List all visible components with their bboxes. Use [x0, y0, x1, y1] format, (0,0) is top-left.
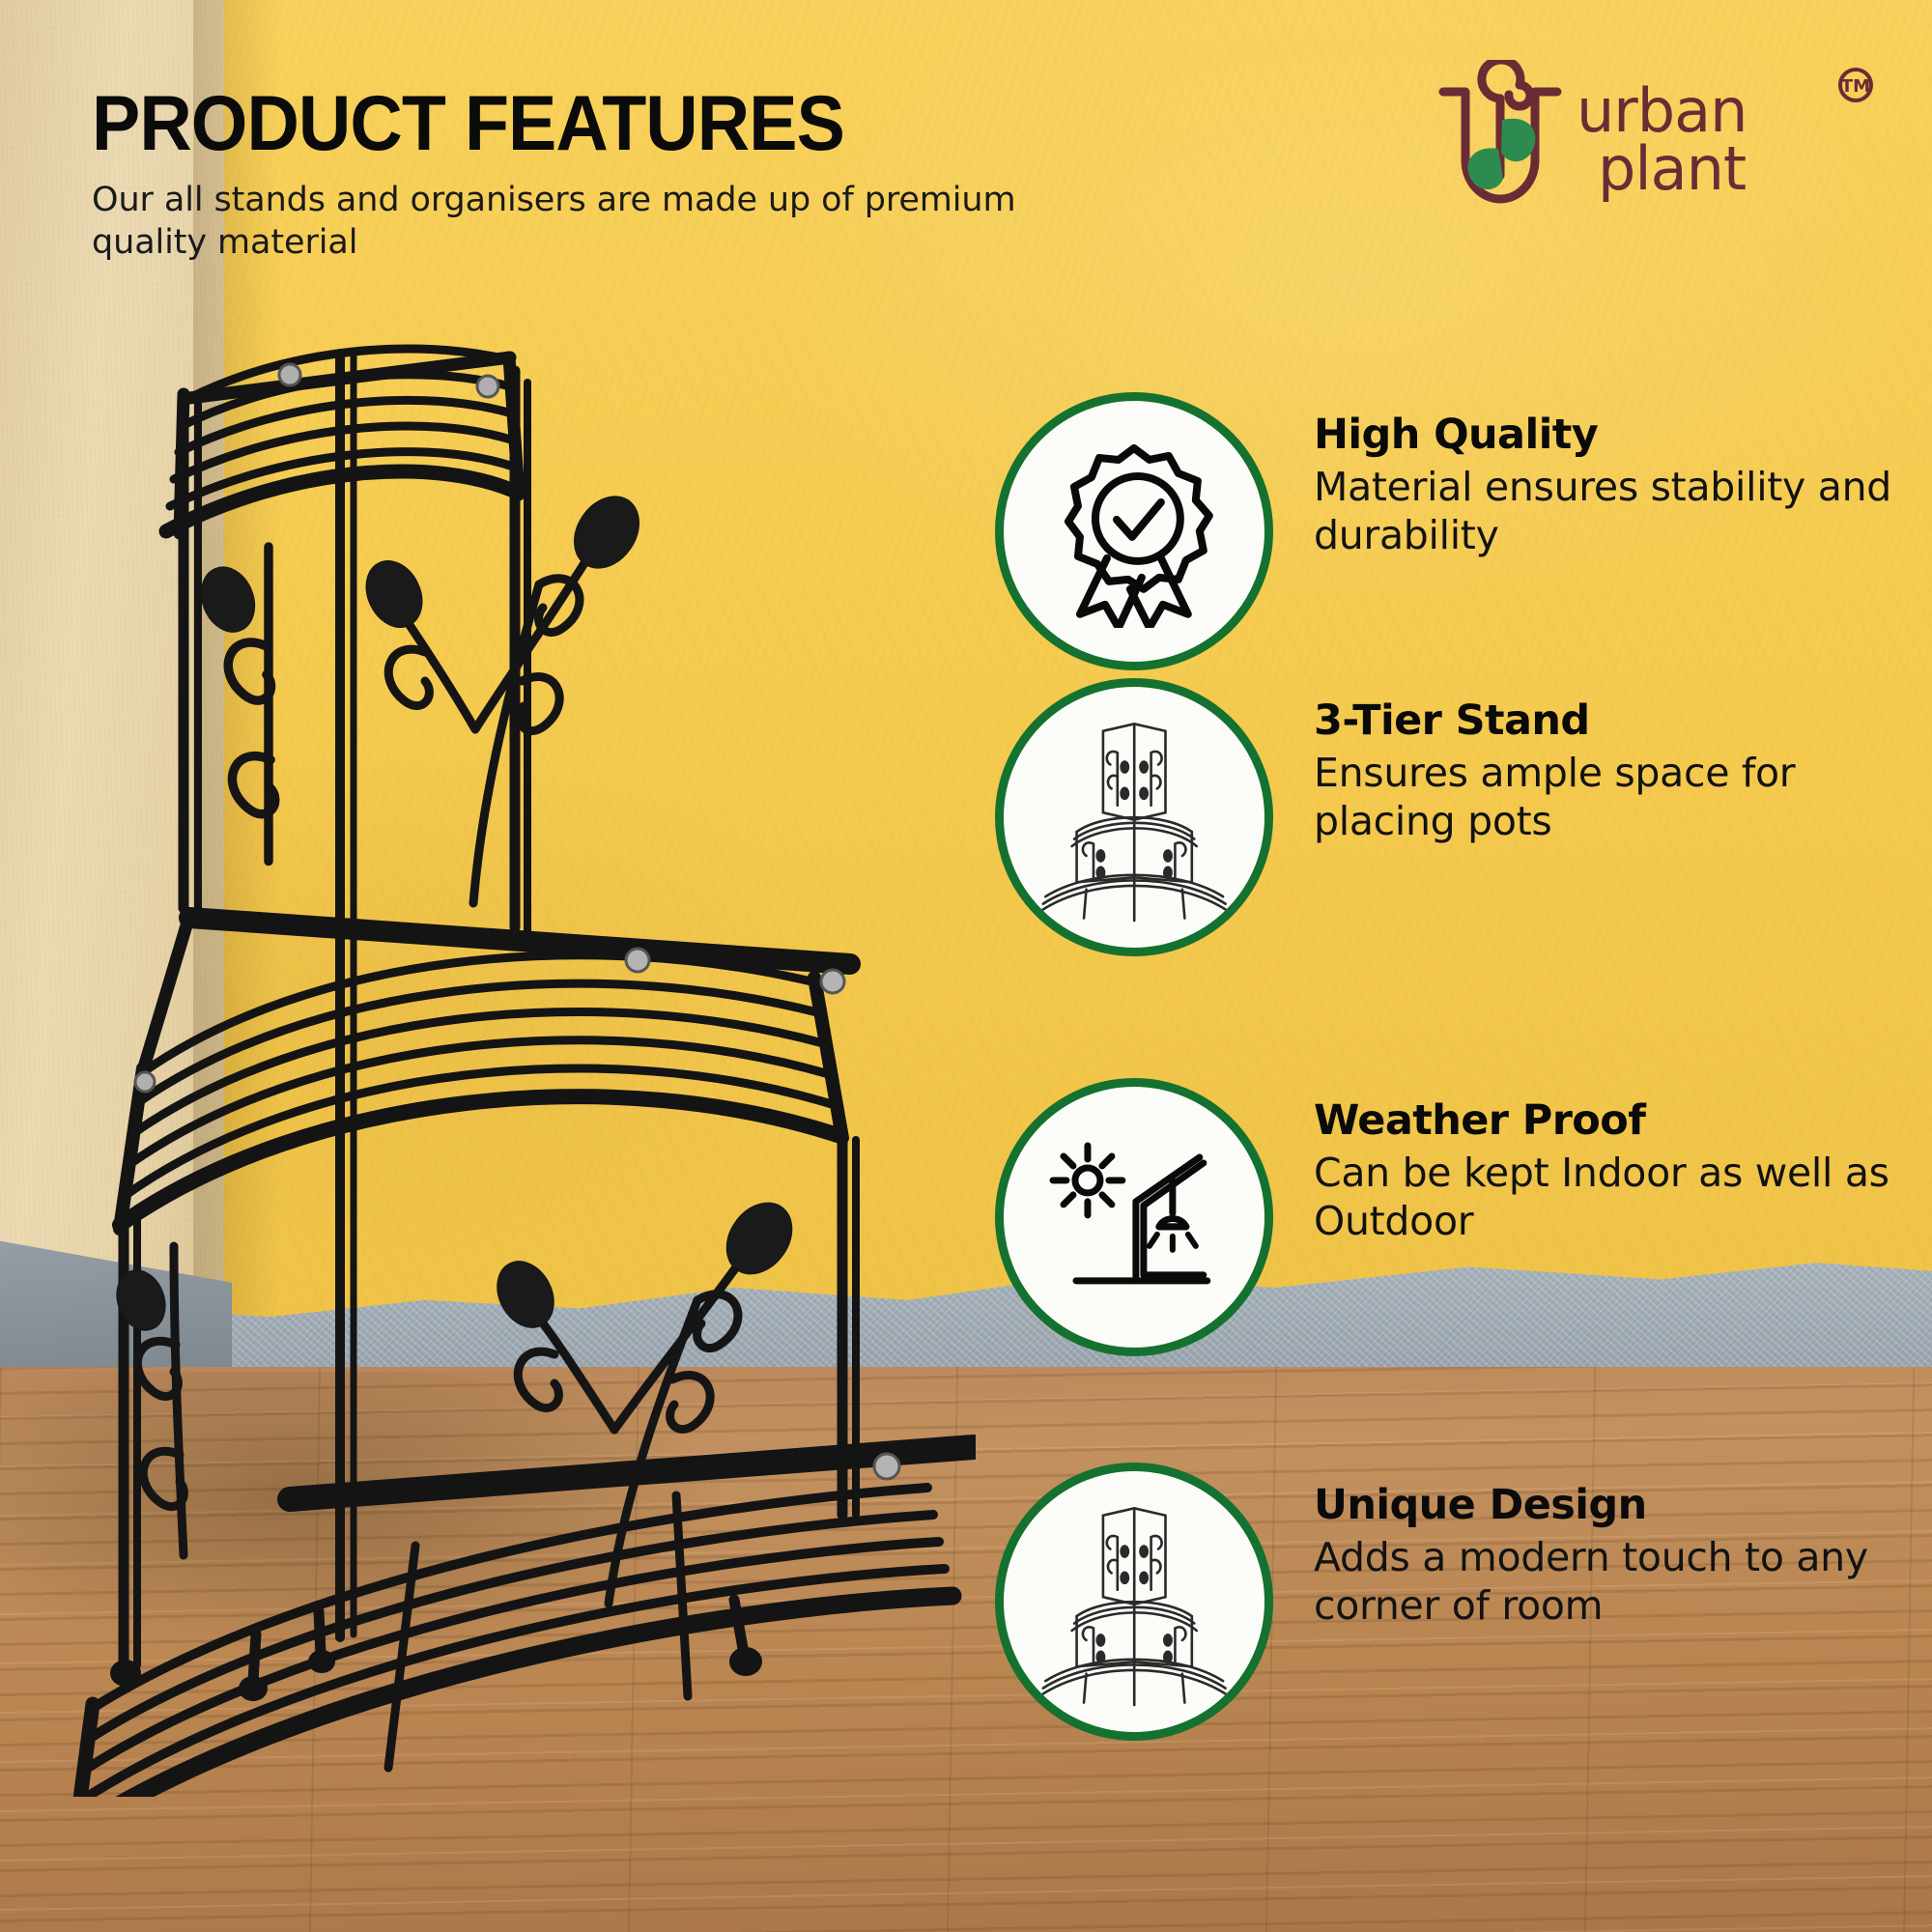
feature-item-high-quality[interactable]: High Quality Material ensures stability … [995, 392, 1893, 670]
feature-text: 3-Tier Stand Ensures ample space for pla… [1314, 678, 1893, 846]
three-tier-stand-icon [995, 1463, 1273, 1741]
feature-text: Weather Proof Can be kept Indoor as well… [1314, 1078, 1893, 1246]
feature-item-unique-design[interactable]: Unique Design Adds a modern touch to any… [995, 1463, 1893, 1741]
feature-text: Unique Design Adds a modern touch to any… [1314, 1463, 1893, 1631]
feature-description: Adds a modern touch to any corner of roo… [1314, 1533, 1893, 1631]
quality-badge-icon [995, 392, 1273, 670]
feature-title: 3-Tier Stand [1314, 699, 1893, 743]
brand-logo[interactable]: urban plant TM [1434, 60, 1888, 205]
header: PRODUCT FEATURES Our all stands and orga… [92, 85, 1116, 264]
feature-description: Ensures ample space for placing pots [1314, 749, 1893, 846]
feature-item-weather-proof[interactable]: Weather Proof Can be kept Indoor as well… [995, 1078, 1893, 1356]
corner-plant-stand-photo [0, 290, 976, 1797]
page-subtitle: Our all stands and organisers are made u… [92, 179, 1058, 264]
feature-title: Weather Proof [1314, 1099, 1893, 1143]
feature-title: Unique Design [1314, 1484, 1893, 1527]
indoor-outdoor-sun-lamp-icon [995, 1078, 1273, 1356]
feature-description: Material ensures stability and durabilit… [1314, 463, 1893, 560]
feature-description: Can be kept Indoor as well as Outdoor [1314, 1149, 1893, 1246]
three-tier-stand-icon [995, 678, 1273, 956]
feature-title: High Quality [1314, 413, 1893, 457]
page-title: PRODUCT FEATURES [92, 85, 1044, 163]
logo-text-plant: plant [1598, 133, 1746, 204]
feature-text: High Quality Material ensures stability … [1314, 392, 1893, 560]
svg-text:TM: TM [1841, 76, 1870, 97]
feature-item-3-tier-stand[interactable]: 3-Tier Stand Ensures ample space for pla… [995, 678, 1893, 956]
trademark-icon: TM [1840, 70, 1871, 100]
